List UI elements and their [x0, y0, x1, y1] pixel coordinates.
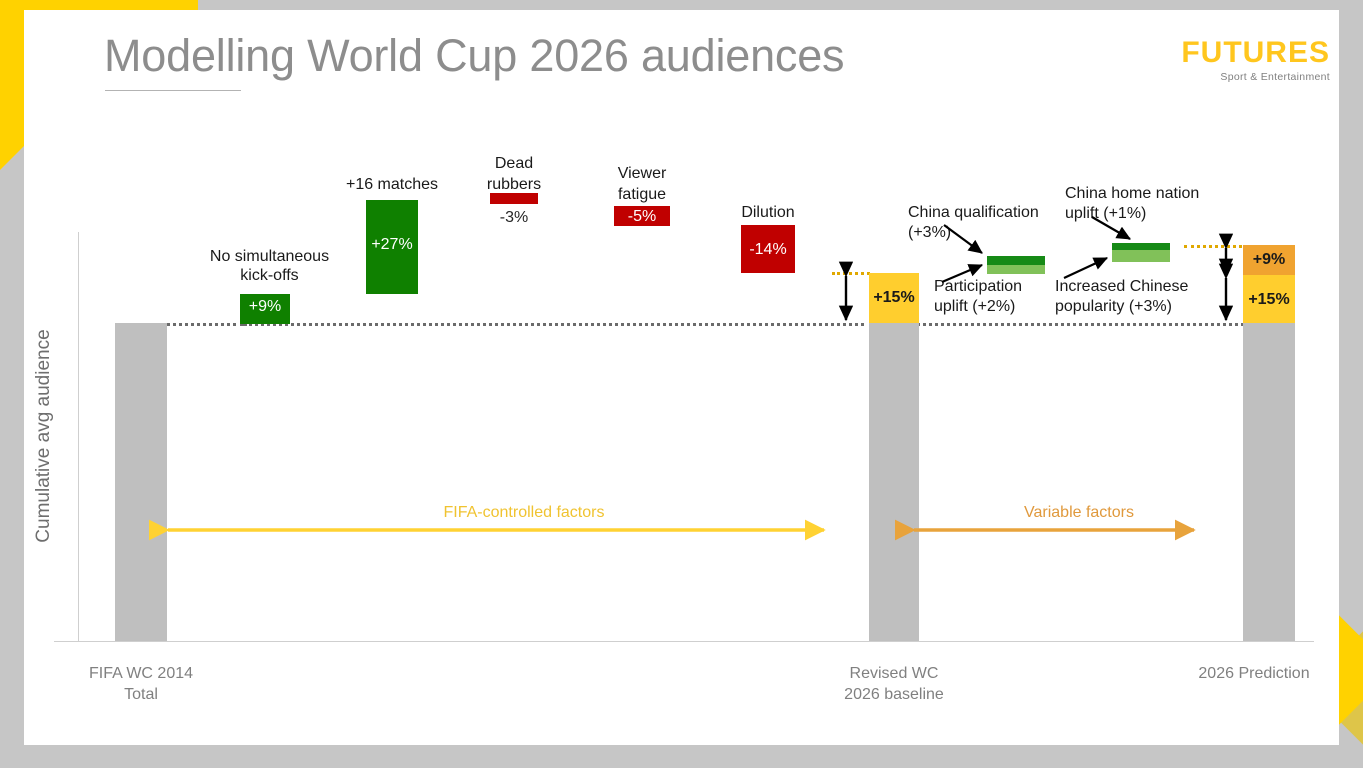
x-axis-line: [54, 641, 1314, 642]
x-tick-label-0-line2: Total: [56, 685, 226, 706]
annotation-increased-chinese-2: popularity (+3%): [1055, 298, 1230, 316]
bar-value-16-matches: +27%: [366, 236, 418, 254]
subtotal-dotted-line: [832, 272, 870, 275]
label-viewer-fatigue-line1: Viewer: [592, 165, 692, 183]
bar-revised-wc-2026-baseline-base[interactable]: [869, 323, 919, 641]
y-axis-label: Cumulative avg audience: [33, 271, 55, 601]
bar-china-home-nation-uplift[interactable]: [1112, 243, 1170, 250]
annotation-china-home-nation: China home nation: [1065, 185, 1245, 203]
bar-value-2026-prediction-bottom: +15%: [1243, 291, 1295, 309]
bar-participation-uplift[interactable]: [987, 265, 1045, 274]
range-label-fifa-controlled: FIFA-controlled factors: [344, 504, 704, 522]
bar-value-no-simultaneous-kickoffs: +9%: [240, 298, 290, 316]
bar-value-viewer-fatigue: -5%: [614, 208, 670, 226]
label-viewer-fatigue-line2: fatigue: [592, 186, 692, 204]
x-tick-label-1-line2: 2026 baseline: [809, 685, 979, 706]
bar-2026-prediction-base[interactable]: [1243, 323, 1295, 641]
label-no-simultaneous-kickoffs-line1: No simultaneous: [182, 248, 357, 266]
x-tick-label-0-line1: FIFA WC 2014: [56, 664, 226, 685]
bar-dead-rubbers[interactable]: [490, 193, 538, 204]
annotation-china-qualification-pct: (+3%): [908, 224, 1058, 242]
annotation-china-qualification: China qualification: [908, 204, 1058, 222]
prediction-dotted-line: [1184, 245, 1242, 248]
label-dead-rubbers-line2: rubbers: [464, 176, 564, 194]
y-axis-line: [78, 232, 79, 642]
bar-increased-chinese-popularity[interactable]: [1112, 250, 1170, 262]
label-no-simultaneous-kickoffs-line2: kick-offs: [182, 267, 357, 285]
label-dilution: Dilution: [716, 204, 820, 222]
baseline-dotted-line-left: [244, 323, 864, 326]
bar-fifa-wc-2014-total[interactable]: [115, 323, 167, 641]
slide: Modelling World Cup 2026 audiences FUTUR…: [0, 0, 1363, 768]
callout-arrow-increased-chinese-popularity: [1064, 258, 1107, 278]
bar-value-2026-prediction-top: +9%: [1243, 251, 1295, 269]
annotation-increased-chinese: Increased Chinese: [1055, 278, 1230, 296]
baseline-dotted-line-right: [892, 323, 1252, 326]
x-tick-label-1-line1: Revised WC: [809, 664, 979, 685]
bar-china-qualification[interactable]: [987, 256, 1045, 265]
baseline-dotted-line-start: [154, 323, 244, 326]
label-dead-rubbers-line1: Dead: [464, 155, 564, 173]
x-tick-label-2-line1: 2026 Prediction: [1164, 664, 1344, 685]
bar-value-dilution: -14%: [741, 241, 795, 259]
label-16-matches: +16 matches: [312, 176, 472, 194]
range-label-variable: Variable factors: [934, 504, 1224, 522]
slide-card: Modelling World Cup 2026 audiences FUTUR…: [24, 10, 1339, 745]
bar-value-dead-rubbers: -3%: [464, 209, 564, 227]
bar-value-revised-wc-2026-baseline: +15%: [869, 289, 919, 307]
waterfall-chart: Cumulative avg audience +9% No simultane…: [24, 10, 1339, 745]
annotation-china-home-nation-2: uplift (+1%): [1065, 205, 1245, 223]
chart-arrow-overlay: [24, 10, 1339, 745]
